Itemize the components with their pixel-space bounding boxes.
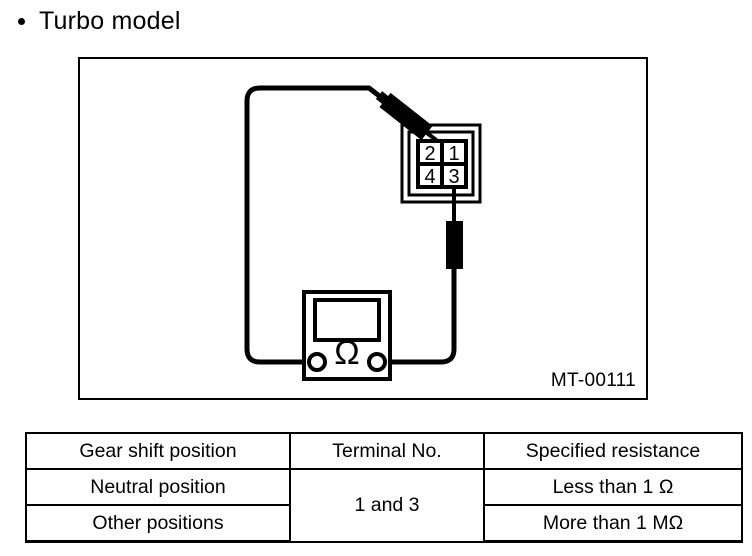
section-heading-label: Turbo model xyxy=(39,7,181,36)
terminal-pin-1: 1 xyxy=(448,143,459,165)
specification-table: Gear shift position Terminal No. Specifi… xyxy=(25,432,743,543)
cell-specified-resistance-other: More than 1 MΩ xyxy=(484,505,742,542)
cell-gear-shift-position-other: Other positions xyxy=(26,505,290,542)
terminal-pin-3: 3 xyxy=(448,166,459,188)
meter-terminal-post-left xyxy=(309,354,325,370)
table-header-row: Gear shift position Terminal No. Specifi… xyxy=(26,433,742,469)
cell-specified-resistance-neutral: Less than 1 Ω xyxy=(484,469,742,505)
column-header-specified-resistance: Specified resistance xyxy=(484,433,742,469)
cell-terminal-no: 1 and 3 xyxy=(290,469,484,542)
section-heading: Turbo model xyxy=(18,2,181,40)
terminal-pin-2: 2 xyxy=(424,143,435,165)
terminal-pin-4: 4 xyxy=(424,166,435,188)
column-header-terminal-no: Terminal No. xyxy=(290,433,484,469)
figure-id-label: MT-00111 xyxy=(551,370,636,392)
right-test-lead-wire xyxy=(392,267,454,362)
cell-gear-shift-position-neutral: Neutral position xyxy=(26,469,290,505)
meter-terminal-post-right xyxy=(369,354,385,370)
column-header-gear-shift-position: Gear shift position xyxy=(26,433,290,469)
ohm-symbol-icon: Ω xyxy=(334,334,359,372)
table-row: Neutral position 1 and 3 Less than 1 Ω xyxy=(26,469,742,505)
wiring-diagram-figure: 2 1 4 3 Ω MT-00111 xyxy=(78,57,648,400)
bullet-icon xyxy=(18,18,25,25)
diagram-canvas: 2 1 4 3 Ω xyxy=(80,59,646,398)
right-probe-handle xyxy=(446,221,463,269)
